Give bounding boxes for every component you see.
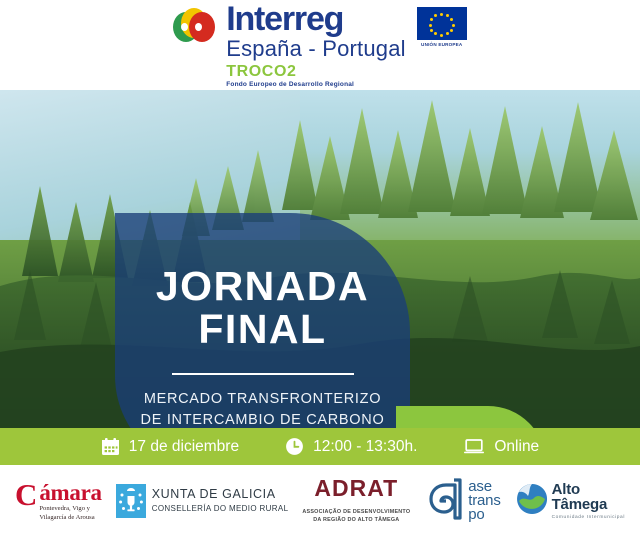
poster-title-line1: JORNADA xyxy=(156,265,369,308)
title-divider xyxy=(172,373,354,375)
eu-caption: UNIÓN EUROPEA xyxy=(421,42,462,47)
event-format: Online xyxy=(494,438,539,456)
logo-alto-tamega: Alto Tâmega Comunidade Intermunicipal xyxy=(515,482,625,521)
adrat-sub-line1: ASSOCIAÇÃO DE DESENVOLVIMENTO xyxy=(302,509,410,515)
sponsor-logos: C ámara Pontevedra, Vigo y Vilagarcía de… xyxy=(0,465,640,537)
event-poster: Interreg España - Portugal TROCO2 Fondo … xyxy=(0,0,640,537)
asetranspo-spiral-icon xyxy=(424,477,464,526)
alto-tamega-sub: Comunidade Intermunicipal xyxy=(552,515,625,520)
event-date: 17 de diciembre xyxy=(129,438,239,456)
calendar-icon xyxy=(101,437,120,456)
logo-adrat: ADRAT ASSOCIAÇÃO DE DESENVOLVIMENTO DA R… xyxy=(302,477,410,525)
hero-title-panel: JORNADA FINAL MERCADO TRANSFRONTERIZO DE… xyxy=(115,213,410,428)
camara-sub-line1: Pontevedra, Vigo y xyxy=(39,505,90,512)
alto-tamega-water-icon xyxy=(515,482,549,521)
interreg-circles-icon xyxy=(173,8,215,46)
programme-name: España - Portugal xyxy=(226,38,406,60)
logo-camara: C ámara Pontevedra, Vigo y Vilagarcía de… xyxy=(15,480,102,523)
poster-header: Interreg España - Portugal TROCO2 Fondo … xyxy=(0,0,640,90)
event-info-bar: 17 de diciembre 12:00 - 13:30h. Online xyxy=(0,428,640,465)
poster-subtitle-line2: DE INTERCAMBIO DE CARBONO xyxy=(141,410,385,428)
eu-emblem: UNIÓN EUROPEA xyxy=(417,7,467,47)
adrat-wordmark: ADRAT xyxy=(314,477,398,500)
logo-xunta-de-galicia: XUNTA DE GALICIA CONSELLERÍA DO MEDIO RU… xyxy=(116,484,289,518)
fund-line: Fondo Europeo de Desarrollo Regional xyxy=(226,82,406,89)
xunta-sub-text: CONSELLERÍA DO MEDIO RURAL xyxy=(152,504,289,514)
project-name: TROCO2 xyxy=(226,64,406,80)
logo-asetranspo: ase trans po xyxy=(424,477,500,526)
info-item-date: 17 de diciembre xyxy=(101,437,239,456)
poster-title-line2: FINAL xyxy=(198,308,326,351)
info-item-format: Online xyxy=(463,437,539,456)
project-badge: Proyecto TROCO2 xyxy=(396,406,546,428)
hero-forest-photo: JORNADA FINAL MERCADO TRANSFRONTERIZO DE… xyxy=(0,90,640,428)
event-time: 12:00 - 13:30h. xyxy=(313,438,417,456)
asetranspo-line3: po xyxy=(468,508,500,522)
poster-subtitle-line1: MERCADO TRANSFRONTERIZO xyxy=(144,389,381,410)
info-item-time: 12:00 - 13:30h. xyxy=(285,437,417,456)
camara-initial: C xyxy=(15,480,37,509)
galicia-coat-of-arms-icon xyxy=(116,484,146,518)
alto-tamega-line1: Alto xyxy=(552,482,625,497)
adrat-sub-line2: DA REGIÃO DO ALTO TÂMEGA xyxy=(313,517,399,523)
interreg-wordmark: Interreg xyxy=(226,2,406,36)
clock-icon xyxy=(285,437,304,456)
laptop-icon xyxy=(463,437,485,456)
camara-wordmark: ámara xyxy=(39,482,101,503)
alto-tamega-line2: Tâmega xyxy=(552,497,625,513)
xunta-main-text: XUNTA DE GALICIA xyxy=(152,487,289,502)
camara-sub-line2: Vilagarcía de Arousa xyxy=(39,514,94,521)
eu-flag-icon xyxy=(417,7,467,40)
